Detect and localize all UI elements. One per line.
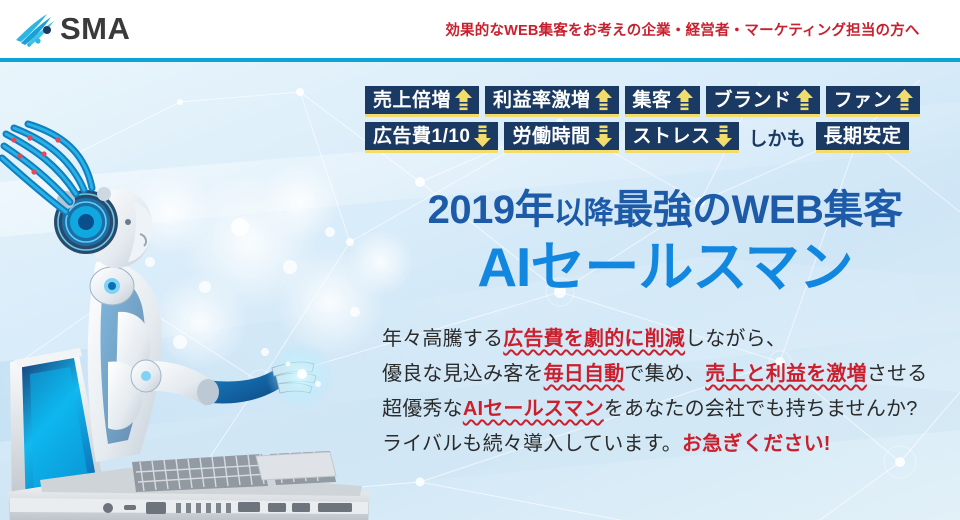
copy-line-1: 年々高騰する広告費を劇的に削減しながら、 [382,322,957,357]
badge-brand[interactable]: ブランド [706,86,820,117]
arrow-down-icon [474,125,491,147]
headline-small: 以降 [554,197,613,230]
arrow-up-icon [595,89,612,111]
copy-emphasis: 売上と利益を激増 [705,363,867,385]
copy-line-3: 超優秀なAIセールスマンをあなたの会社でも持ちませんか? [382,392,957,427]
badge-long-term-stability[interactable]: 長期安定 [816,122,909,153]
benefit-badges: 売上倍増 利益率激増 集客 ブランド [365,86,920,158]
header-tagline: 効果的なWEB集客をお考えの企業・経営者・マーケティング担当の方へ [420,19,945,40]
copy-emphasis: 毎日自動 [544,363,625,385]
badge-ad-cost[interactable]: 広告費1/10 [365,122,498,153]
badge-connector-word: しかも [745,122,810,153]
copy-line-4: ライバルも続々導入しています。お急ぎください! [382,427,957,462]
copy-text: をあなたの会社でも持ちませんか? [604,398,918,420]
copy-text: しながら、 [685,328,786,350]
badge-label: ストレス [633,127,711,146]
copy-emphasis: 広告費を劇的に削減 [503,328,685,350]
copy-emphasis: AIセールスマン [463,398,604,420]
badge-label: 労働時間 [512,127,590,146]
copy-line-2: 優良な見込み客を毎日自動で集め、売上と利益を激増させる [382,357,957,392]
badge-row-up: 売上倍増 利益率激増 集客 ブランド [365,86,920,117]
arrow-up-icon [455,89,472,111]
badge-sales-double[interactable]: 売上倍増 [365,86,479,117]
arrow-up-icon [896,89,913,111]
badge-working-hours[interactable]: 労働時間 [504,122,618,153]
hero-headline: 2019年以降最強のWEB集客 [385,190,945,230]
badge-label: ファン [834,91,893,110]
badge-label: ブランド [714,91,792,110]
badge-fans[interactable]: ファン [826,86,921,117]
badge-row-down: 広告費1/10 労働時間 ストレス しかも 長期安 [365,122,920,153]
badge-stress[interactable]: ストレス [625,122,739,153]
badge-label: 集客 [633,91,672,110]
arrow-up-icon [796,89,813,111]
headline-suffix: 最強のWEB集客 [613,188,902,232]
arrow-up-icon [676,89,693,111]
badge-customer-acquisition[interactable]: 集客 [625,86,700,117]
badge-profit-rate[interactable]: 利益率激増 [485,86,619,117]
copy-text: させる [867,363,928,385]
header-divider [0,58,960,62]
copy-text: 年々高騰する [382,328,503,350]
copy-text: 超優秀な [382,398,463,420]
swoosh-dots-mark [14,10,58,48]
badge-label: 広告費1/10 [373,127,470,146]
arrow-down-icon [715,125,732,147]
copy-text: で集め、 [624,363,705,385]
robot-laptop-illustration [0,62,400,520]
hero-body-copy: 年々高騰する広告費を劇的に削減しながら、 優良な見込み客を毎日自動で集め、売上と… [382,322,957,462]
hero-title: AIセールスマン [385,240,945,295]
badge-label: 売上倍増 [373,91,451,110]
badge-label: 利益率激増 [493,91,591,110]
page-header: SMA 効果的なWEB集客をお考えの企業・経営者・マーケティング担当の方へ [0,0,960,58]
copy-emphasis-urgent: お急ぎください! [682,433,831,455]
headline-prefix: 2019年 [428,188,554,232]
logo-text: SMA [60,10,130,48]
copy-text: 優良な見込み客を [382,363,544,385]
badge-label: 長期安定 [824,127,902,146]
copy-text: ライバルも続々導入しています。 [382,433,682,455]
logo[interactable]: SMA [14,10,130,48]
arrow-down-icon [595,125,612,147]
